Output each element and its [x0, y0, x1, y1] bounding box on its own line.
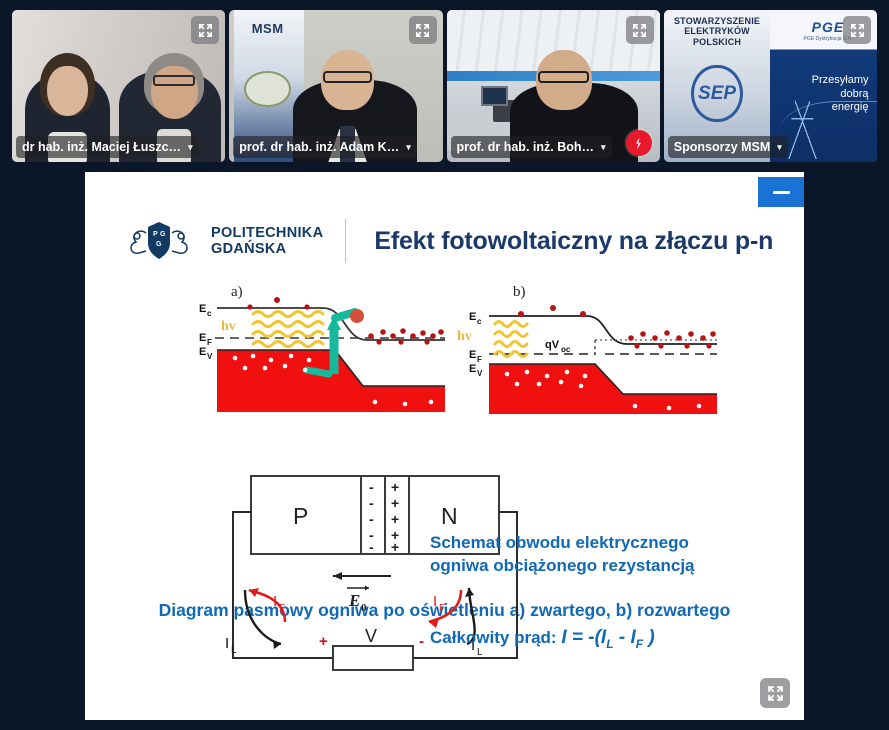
formula-eq: = -(: [572, 627, 601, 648]
svg-text:hv: hv: [457, 329, 472, 344]
band-diagram-b: b): [455, 278, 730, 418]
svg-text:+: +: [391, 539, 399, 555]
svg-text:+: +: [319, 633, 328, 650]
presentation-stage: PGG POLITECHNIKA GDAŃSKA Efekt fotowolta…: [85, 172, 804, 720]
slide-title: Efekt fotowoltaiczny na złączu p-n: [374, 227, 773, 256]
pge-slogan: Przesyłamy dobrą energię: [783, 74, 868, 115]
sep-poster-text: STOWARZYSZENIE ELEKTRYKÓW POLSKICH: [668, 16, 766, 47]
svg-text:b): b): [513, 284, 526, 300]
svg-text:G: G: [160, 231, 166, 238]
expand-icon[interactable]: [191, 16, 219, 44]
participant-name-2[interactable]: prof. dr hab. inż. Adam K… ▾: [233, 136, 417, 158]
svg-text:V: V: [477, 369, 483, 378]
svg-text:-: -: [369, 539, 374, 555]
svg-text:P: P: [153, 231, 158, 238]
svg-text:E: E: [348, 591, 360, 610]
chevron-down-icon[interactable]: ▾: [777, 142, 782, 153]
svg-text:qV: qV: [545, 339, 560, 351]
participant-tile-3[interactable]: prof. dr hab. inż. Boh… ▾: [447, 10, 660, 162]
chevron-down-icon[interactable]: ▾: [601, 142, 606, 153]
participant-filmstrip: dr hab. inż. Maciej Łuszc… ▾ MSM prof. d…: [0, 0, 889, 172]
participant-tile-2[interactable]: MSM prof. dr hab. inż. Adam K… ▾: [229, 10, 442, 162]
svg-text:E: E: [199, 303, 206, 315]
svg-text:-: -: [369, 511, 374, 527]
svg-text:F: F: [279, 603, 285, 614]
university-logo-text: POLITECHNIKA GDAŃSKA: [211, 225, 323, 257]
formula-if-sub: F: [636, 637, 643, 651]
minimize-button[interactable]: [758, 177, 804, 207]
circuit-description-line-1: Schemat obwodu elektrycznego: [430, 532, 760, 555]
minimize-icon: [773, 191, 790, 194]
university-crest-icon: PGG: [117, 219, 201, 263]
msm-banner-text: MSM: [238, 21, 298, 39]
pge-slogan-3: energię: [783, 101, 868, 115]
sep-logo: SEP: [691, 65, 742, 123]
svg-text:F: F: [207, 338, 212, 347]
svg-text:+: +: [391, 479, 399, 495]
region-n-label: N: [441, 503, 458, 529]
circuit-description: Schemat obwodu elektrycznego ogniwa obci…: [430, 532, 760, 578]
sep-line-1: STOWARZYSZENIE: [668, 16, 766, 26]
svg-text:-: -: [369, 479, 374, 495]
svg-text:0: 0: [361, 602, 367, 614]
participant-name-label-3: prof. dr hab. inż. Boh…: [457, 140, 595, 154]
band-diagram-a: a): [195, 278, 455, 418]
participant-name-3[interactable]: prof. dr hab. inż. Boh… ▾: [451, 136, 612, 158]
circuit-description-line-2: ogniwa obciążonego rezystancją: [430, 555, 760, 578]
voltage-label: V: [365, 626, 377, 646]
svg-text:E: E: [469, 349, 476, 361]
expand-icon[interactable]: [626, 16, 654, 44]
svg-text:L: L: [231, 645, 237, 656]
svg-text:c: c: [477, 317, 482, 326]
chevron-down-icon[interactable]: ▾: [406, 142, 411, 153]
logo-line-2: GDAŃSKA: [211, 241, 323, 257]
svg-text:E: E: [469, 311, 476, 323]
svg-text:F: F: [439, 603, 445, 614]
svg-text:G: G: [156, 241, 162, 248]
formula-prefix: Całkowity prąd:: [430, 628, 557, 647]
pge-slogan-1: Przesyłamy: [783, 74, 868, 88]
participant-name-1[interactable]: dr hab. inż. Maciej Łuszc… ▾: [16, 136, 199, 158]
expand-icon[interactable]: [409, 16, 437, 44]
logo-line-1: POLITECHNIKA: [211, 225, 323, 241]
svg-text:-: -: [369, 495, 374, 511]
svg-text:E: E: [199, 346, 206, 358]
svg-text:-: -: [419, 633, 424, 650]
svg-text:oc: oc: [561, 345, 571, 354]
svg-text:hv: hv: [221, 319, 236, 334]
svg-text:F: F: [477, 355, 482, 364]
video-conference-app: dr hab. inż. Maciej Łuszc… ▾ MSM prof. d…: [0, 0, 889, 730]
svg-text:+: +: [391, 495, 399, 511]
university-logo: PGG POLITECHNIKA GDAŃSKA: [117, 219, 323, 263]
participant-name-label-4: Sponsorzy MSM: [674, 140, 771, 154]
participant-tile-4[interactable]: STOWARZYSZENIE ELEKTRYKÓW POLSKICH SEP P…: [664, 10, 877, 162]
svg-text:V: V: [207, 352, 213, 361]
pge-slogan-2: dobrą: [783, 88, 868, 102]
svg-text:+: +: [391, 511, 399, 527]
formula-close: ): [648, 627, 654, 648]
participant-tile-1[interactable]: dr hab. inż. Maciej Łuszc… ▾: [12, 10, 225, 162]
svg-text:c: c: [207, 309, 212, 318]
raise-hand-badge[interactable]: [626, 130, 652, 156]
svg-text:I: I: [433, 593, 437, 610]
header-divider: [345, 219, 346, 263]
participant-name-label-2: prof. dr hab. inż. Adam K…: [239, 140, 399, 154]
band-diagram-figures: a): [85, 278, 804, 418]
svg-text:I: I: [273, 593, 277, 610]
slide-header: PGG POLITECHNIKA GDAŃSKA Efekt fotowolta…: [85, 206, 804, 276]
expand-icon: [766, 684, 785, 703]
svg-text:a): a): [231, 284, 243, 300]
formula-i: I: [561, 627, 566, 648]
sep-line-2: ELEKTRYKÓW POLSKICH: [668, 26, 766, 47]
formula-expression: I = -(IL - IF ): [561, 627, 654, 648]
formula-il-sub: L: [606, 637, 613, 651]
participant-name-4[interactable]: Sponsorzy MSM ▾: [668, 136, 788, 158]
total-current-formula: Całkowity prąd: I = -(IL - IF ): [430, 627, 770, 651]
expand-icon[interactable]: [843, 16, 871, 44]
formula-minus: -: [619, 627, 625, 648]
svg-text:E: E: [199, 332, 206, 344]
region-p-label: P: [293, 503, 308, 529]
fullscreen-expand-button[interactable]: [760, 678, 790, 708]
svg-text:I: I: [225, 635, 229, 652]
svg-text:E: E: [469, 363, 476, 375]
chevron-down-icon[interactable]: ▾: [188, 142, 193, 153]
participant-name-label-1: dr hab. inż. Maciej Łuszc…: [22, 140, 181, 154]
